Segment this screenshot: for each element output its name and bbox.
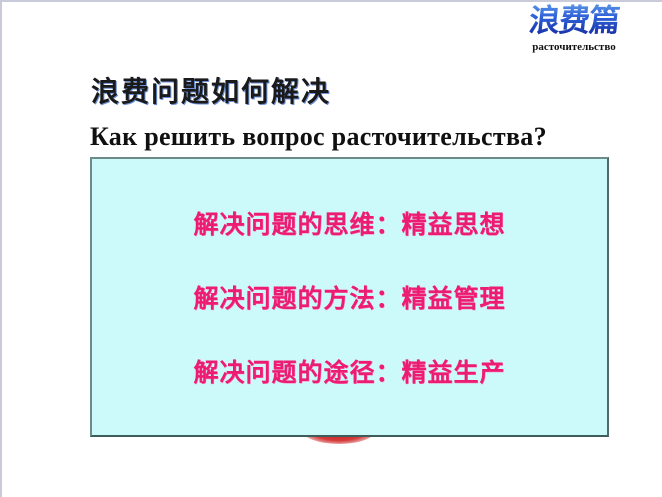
slide-canvas: 浪费篇 浪费篇 расточительство 浪费问题如何解决 Как реш… (0, 0, 662, 497)
content-line: 解决问题的途径：精益生产 (193, 353, 505, 389)
page-title-chinese: 浪费问题如何解决 (91, 70, 331, 110)
logo-russian: расточительство (494, 41, 654, 53)
logo-chinese: 浪费篇 (527, 2, 621, 40)
logo-block: 浪费篇 浪费篇 расточительство (494, 2, 654, 53)
page-title-russian: Как решить вопрос расточительства? (90, 122, 547, 152)
content-line: 解决问题的方法：精益管理 (193, 279, 505, 315)
content-line: 解决问题的思维：精益思想 (193, 205, 505, 241)
content-box: 解决问题的思维：精益思想 解决问题的方法：精益管理 解决问题的途径：精益生产 (90, 157, 609, 437)
